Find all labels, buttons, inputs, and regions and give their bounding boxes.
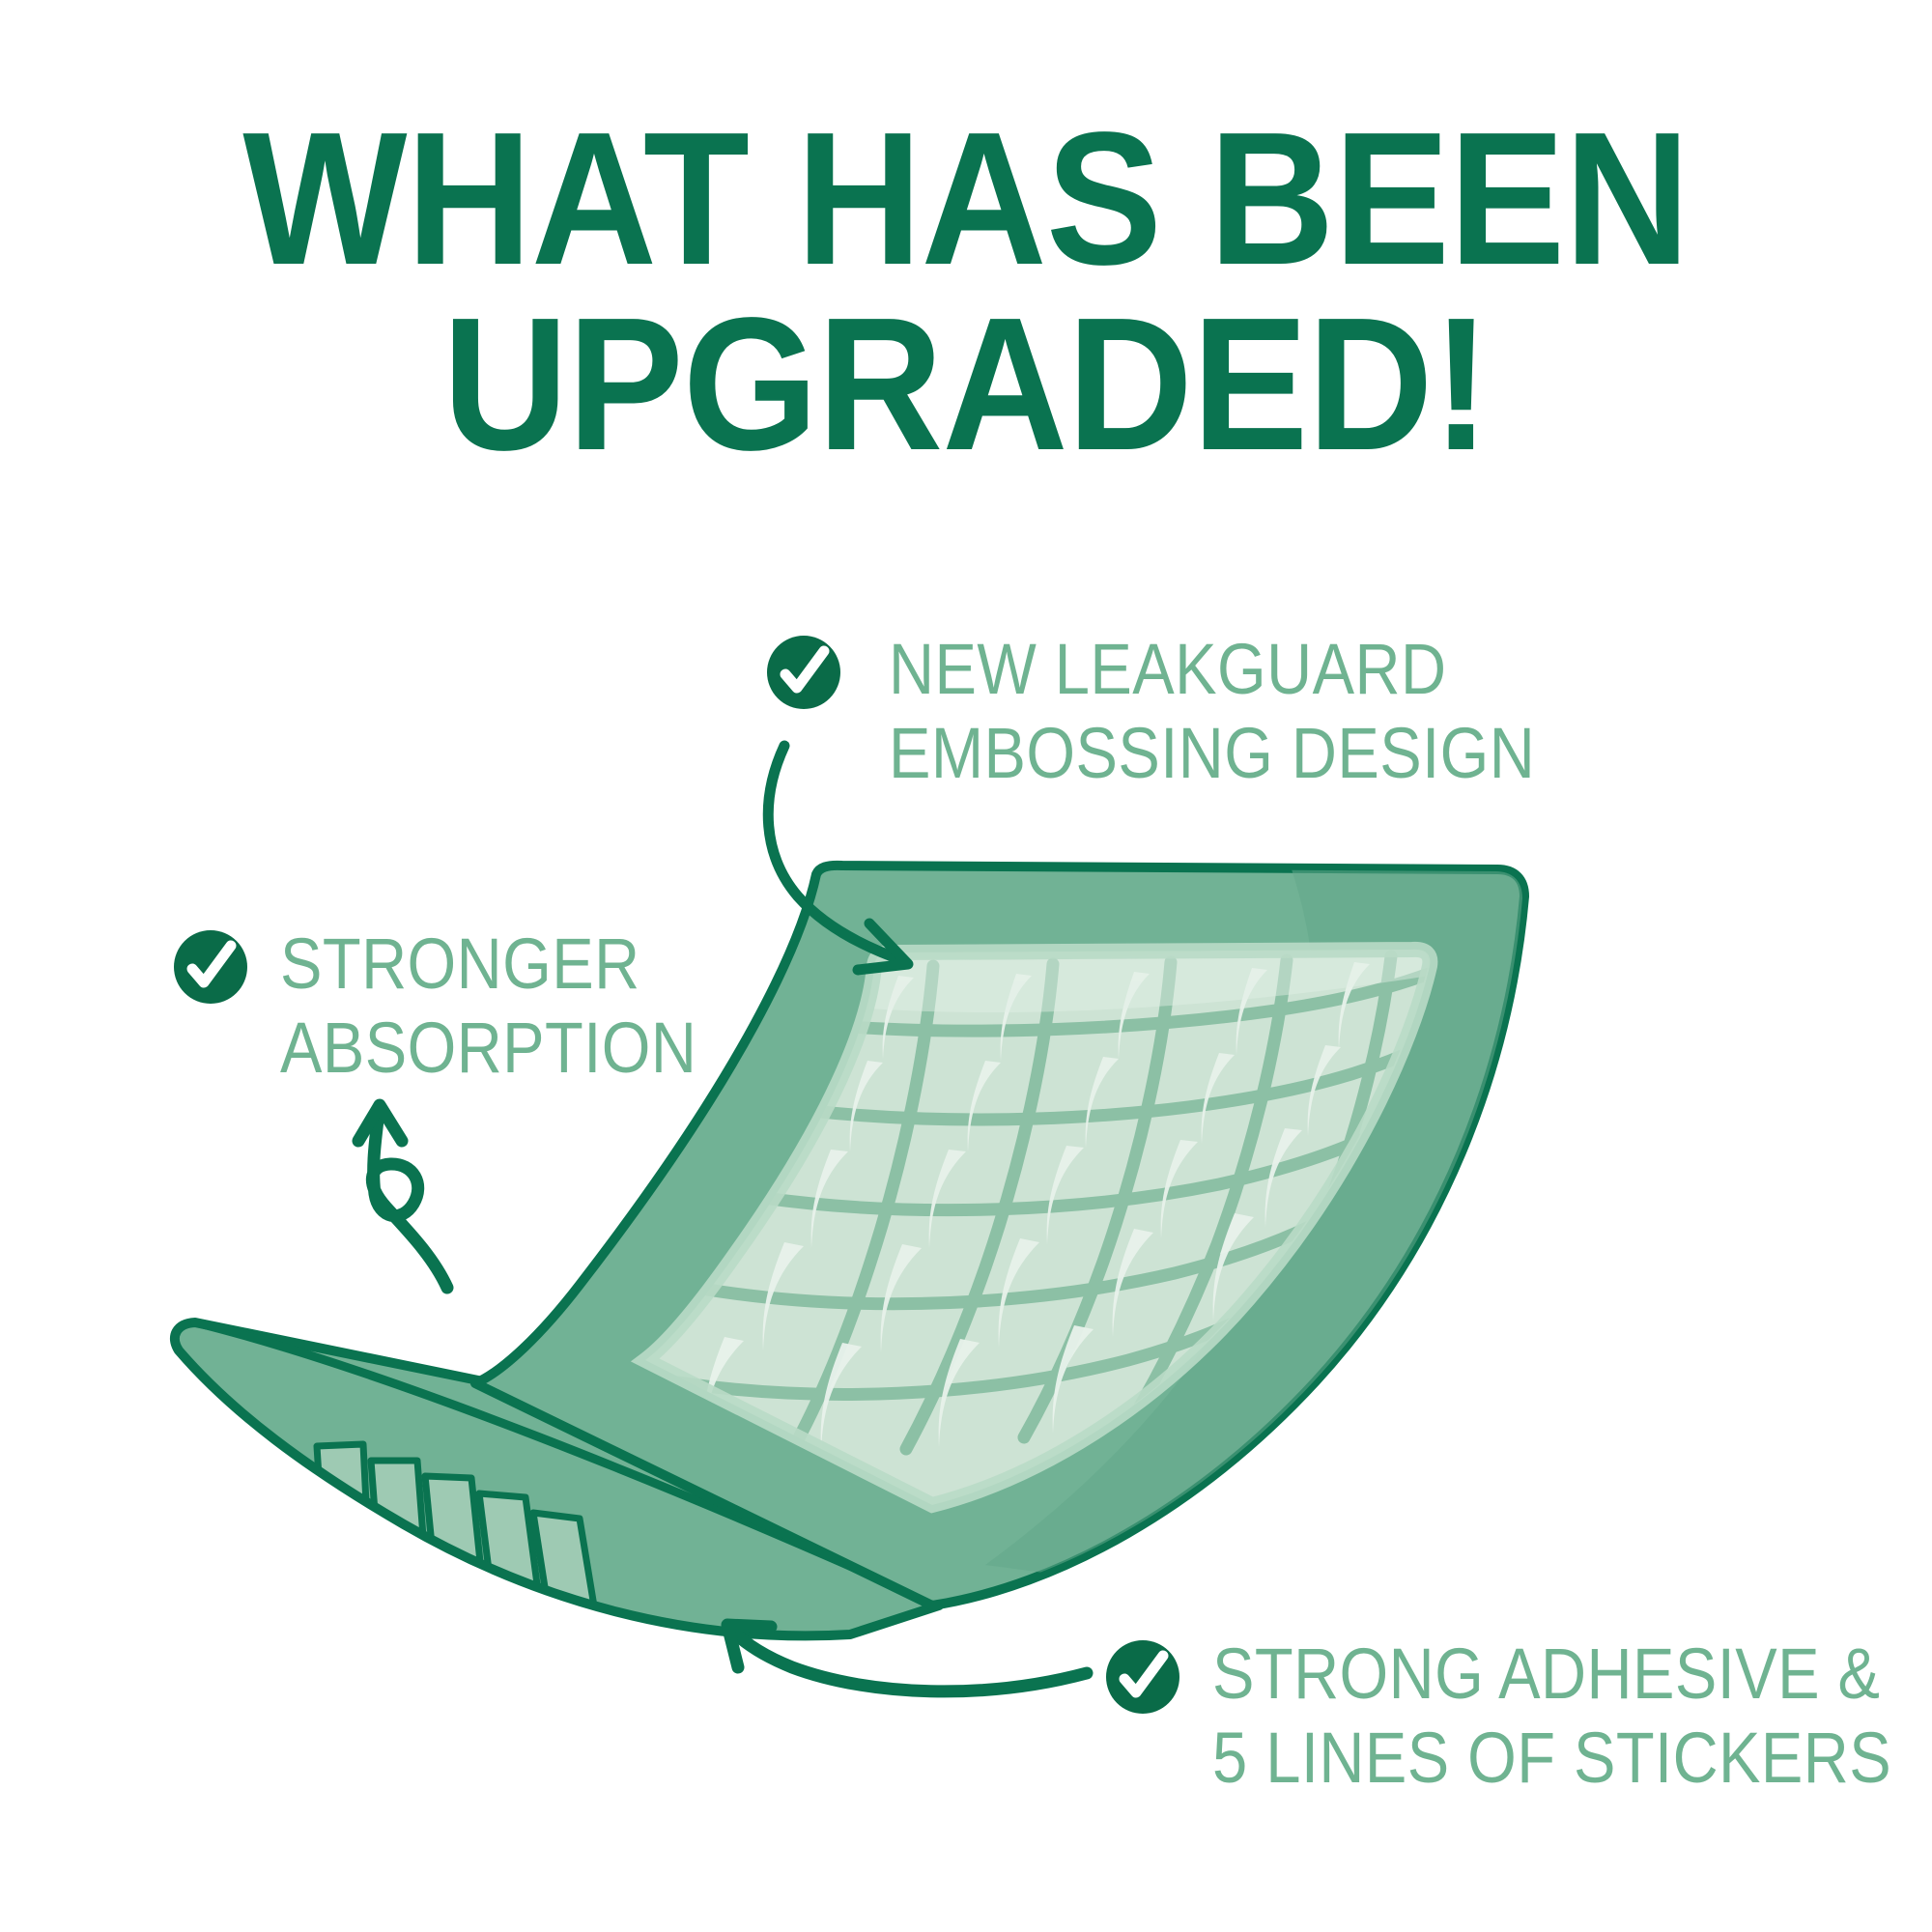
callout-adhesive: STRONG ADHESIVE & 5 LINES OF STICKERS (1212, 1633, 1932, 1800)
title-line-2: UPGRADED! (77, 292, 1855, 477)
arrow-leakguard (768, 746, 908, 970)
callout-absorption-line-1: STRONGER (280, 923, 696, 1007)
infographic-poster: WHAT HAS BEEN UPGRADED! NEW LEAKGUARD EM… (0, 0, 1932, 1932)
callout-absorption: STRONGER ABSORPTION (280, 923, 753, 1090)
check-badge-icon (767, 636, 840, 709)
page-title: WHAT HAS BEEN UPGRADED! (0, 106, 1932, 477)
callout-leakguard: NEW LEAKGUARD EMBOSSING DESIGN (889, 628, 1623, 795)
callout-adhesive-line-2: 5 LINES OF STICKERS (1212, 1717, 1891, 1801)
title-line-1: WHAT HAS BEEN (77, 106, 1855, 292)
arrow-absorption (358, 1105, 447, 1288)
callout-adhesive-line-1: STRONG ADHESIVE & (1212, 1633, 1891, 1717)
callout-leakguard-line-1: NEW LEAKGUARD (889, 628, 1535, 712)
check-badge-icon (174, 930, 247, 1004)
callout-leakguard-line-2: EMBOSSING DESIGN (889, 712, 1535, 796)
callout-absorption-line-2: ABSORPTION (280, 1007, 696, 1091)
check-badge-icon (1106, 1640, 1179, 1714)
